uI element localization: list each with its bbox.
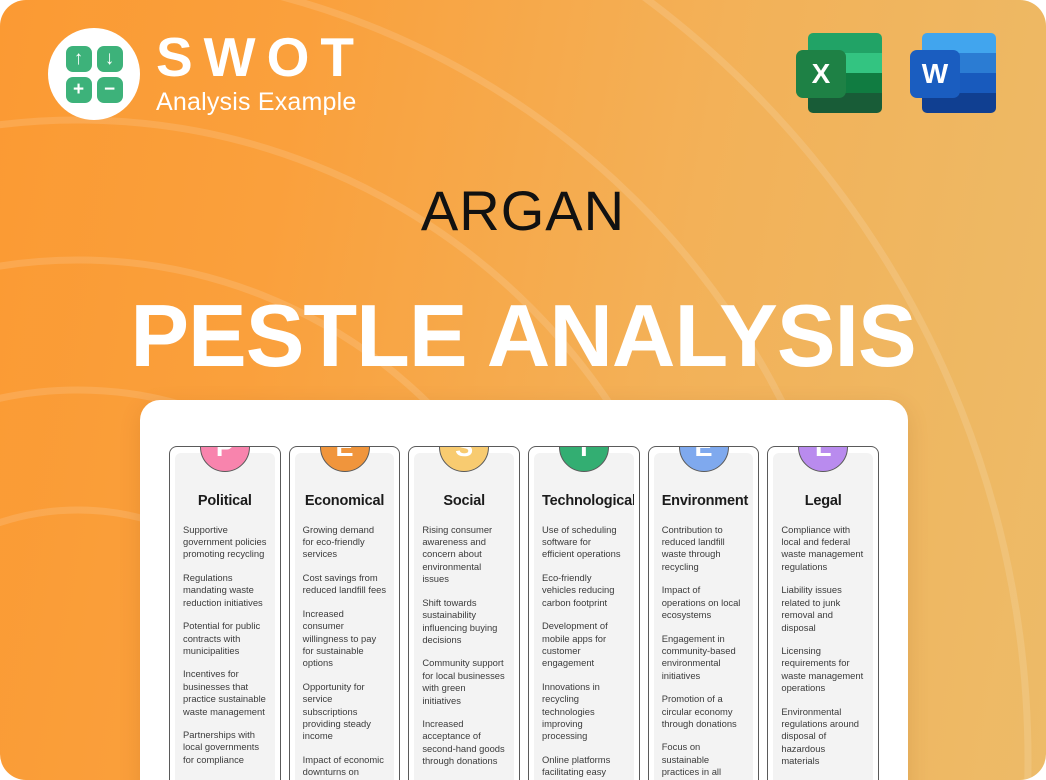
pestle-column-environment[interactable]: E Environment Contribution to reduced la… (648, 446, 760, 780)
item-list-political: Supportive government policies promoting… (183, 524, 267, 767)
arrow-down-icon: ↓ (97, 46, 123, 72)
subject-title: ARGAN (0, 178, 1046, 243)
list-item: Shift towards sustainability influencing… (422, 597, 506, 647)
item-list-legal: Compliance with local and federal waste … (781, 524, 865, 780)
brand-logo-block: ↑ ↓ + − SWOT Analysis Example (48, 28, 365, 120)
arrow-up-icon: ↑ (66, 46, 92, 72)
column-title-legal: Legal (781, 493, 865, 510)
list-item: Potential for public contracts with muni… (183, 620, 267, 657)
item-list-economical: Growing demand for eco-friendly services… (303, 524, 387, 780)
brand-subtitle: Analysis Example (156, 87, 365, 118)
list-item: Rising consumer awareness and concern ab… (422, 524, 506, 586)
list-item: Supportive government policies promoting… (183, 524, 267, 561)
list-item: Incentives for businesses that practice … (183, 668, 267, 718)
office-icon-group: X W (796, 30, 996, 116)
word-icon[interactable]: W (910, 30, 996, 116)
pestle-column-economical[interactable]: E Economical Growing demand for eco-frie… (289, 446, 401, 780)
list-item: Environmental regulations around disposa… (781, 706, 865, 768)
panel-economical: Economical Growing demand for eco-friend… (295, 453, 395, 780)
pestle-column-political[interactable]: P Political Supportive government polici… (169, 446, 281, 780)
calculator-grid-icon: ↑ ↓ + − (48, 28, 140, 120)
list-item: Compliance with local and federal waste … (781, 524, 865, 574)
list-item: Contribution to reduced landfill waste t… (662, 524, 746, 574)
excel-icon[interactable]: X (796, 30, 882, 116)
panel-social: Social Rising consumer awareness and con… (414, 453, 514, 780)
word-icon-letter: W (910, 50, 960, 98)
page-title: PESTLE ANALYSIS (0, 292, 1046, 380)
item-list-environment: Contribution to reduced landfill waste t… (662, 524, 746, 780)
panel-legal: Legal Compliance with local and federal … (773, 453, 873, 780)
list-item: Opportunity for service subscriptions pr… (303, 681, 387, 743)
plus-icon: + (66, 77, 92, 103)
list-item: Cost savings from reduced landfill fees (303, 572, 387, 597)
list-item: Growing demand for eco-friendly services (303, 524, 387, 561)
list-item: Promotion of a circular economy through … (662, 693, 746, 730)
list-item: Online platforms facilitating easy booki… (542, 754, 626, 780)
list-item: Impact of economic downturns on disposab… (303, 754, 387, 780)
column-title-economical: Economical (303, 493, 387, 510)
list-item: Increased consumer willingness to pay fo… (303, 608, 387, 670)
list-item: Regulations mandating waste reduction in… (183, 572, 267, 609)
item-list-social: Rising consumer awareness and concern ab… (422, 524, 506, 780)
list-item: Partnerships with local governments for … (183, 729, 267, 766)
list-item: Use of scheduling software for efficient… (542, 524, 626, 561)
panel-technological: Technological Use of scheduling software… (534, 453, 634, 780)
poster-header: ↑ ↓ + − SWOT Analysis Example X (0, 0, 1046, 150)
list-item: Licensing requirements for waste managem… (781, 645, 865, 695)
list-item: Innovations in recycling technologies im… (542, 681, 626, 743)
pestle-columns: P Political Supportive government polici… (169, 446, 879, 780)
list-item: Community support for local businesses w… (422, 657, 506, 707)
column-title-technological: Technological (542, 493, 626, 510)
column-title-environment: Environment (662, 493, 746, 510)
pestle-column-technological[interactable]: T Technological Use of scheduling softwa… (528, 446, 640, 780)
excel-icon-letter: X (796, 50, 846, 98)
pestle-column-social[interactable]: S Social Rising consumer awareness and c… (408, 446, 520, 780)
list-item: Focus on sustainable practices in all as… (662, 741, 746, 780)
list-item: Eco-friendly vehicles reducing carbon fo… (542, 572, 626, 609)
column-title-political: Political (183, 493, 267, 510)
brand-title: SWOT (156, 30, 365, 85)
pestle-column-legal[interactable]: L Legal Compliance with local and federa… (767, 446, 879, 780)
column-title-social: Social (422, 493, 506, 510)
list-item: Liability issues related to junk removal… (781, 584, 865, 634)
panel-environment: Environment Contribution to reduced land… (654, 453, 754, 780)
list-item: Increased acceptance of second-hand good… (422, 718, 506, 768)
pestle-board: P Political Supportive government polici… (140, 400, 908, 780)
panel-political: Political Supportive government policies… (175, 453, 275, 780)
list-item: Development of mobile apps for customer … (542, 620, 626, 670)
item-list-technological: Use of scheduling software for efficient… (542, 524, 626, 780)
list-item: Engagement in community-based environmen… (662, 633, 746, 683)
pestle-analysis-poster: ↑ ↓ + − SWOT Analysis Example X (0, 0, 1046, 780)
minus-icon: − (97, 77, 123, 103)
list-item: Impact of operations on local ecosystems (662, 584, 746, 621)
